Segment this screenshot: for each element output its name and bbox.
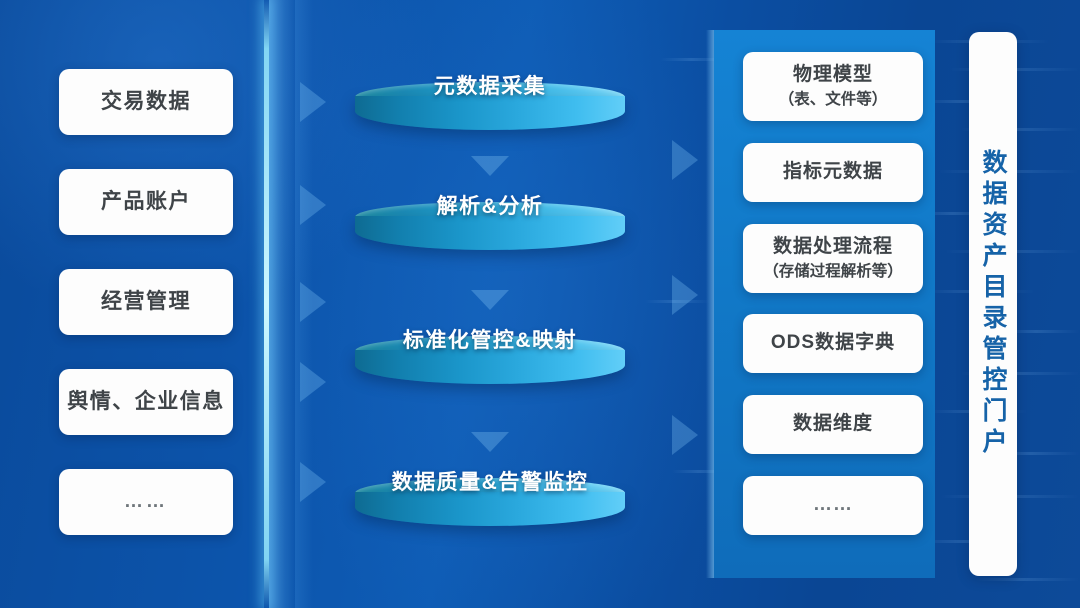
arrow-down-stage-1-to-2: [471, 156, 509, 176]
stage-label: 标准化管控&映射: [355, 324, 625, 354]
card-title: 舆情、企业信息: [67, 389, 225, 416]
card-title: ……: [124, 490, 168, 514]
output-card-ods-data-dictionary[interactable]: ODS数据字典: [743, 314, 923, 373]
stage-label: 元数据采集: [355, 70, 625, 100]
card-subtitle: （存储过程解析等）: [763, 262, 903, 282]
cylinder-body: [355, 350, 625, 384]
source-card-ellipsis[interactable]: ……: [59, 469, 233, 535]
arrow-right-to-stage-3: [300, 282, 326, 322]
card-title: ……: [813, 493, 853, 517]
card-title: 数据处理流程: [773, 235, 893, 259]
card-title: 物理模型: [793, 63, 873, 87]
card-title: 数据维度: [793, 412, 873, 436]
cylinder-body: [355, 216, 625, 250]
output-card-data-dimension[interactable]: 数据维度: [743, 395, 923, 454]
card-subtitle: （表、文件等）: [779, 90, 888, 110]
arrow-right-to-outputs-3: [672, 415, 698, 455]
card-title: 经营管理: [101, 289, 191, 316]
arrow-right-to-stage-1: [300, 82, 326, 122]
cylinder-body: [355, 96, 625, 130]
source-card-public-opinion-enterprise-info[interactable]: 舆情、企业信息: [59, 369, 233, 435]
cylinder-body: [355, 492, 625, 526]
source-card-business-management[interactable]: 经营管理: [59, 269, 233, 335]
arrow-right-to-outputs-2: [672, 275, 698, 315]
stage-label: 解析&分析: [355, 190, 625, 220]
divider-glow-band: [269, 0, 295, 608]
output-card-ellipsis[interactable]: ……: [743, 476, 923, 535]
card-title: 产品账户: [101, 189, 191, 216]
card-title: ODS数据字典: [771, 331, 895, 355]
arrow-right-to-stage-5: [300, 462, 326, 502]
arrow-down-stage-2-to-3: [471, 290, 509, 310]
output-card-physical-model[interactable]: 物理模型 （表、文件等）: [743, 52, 923, 121]
output-card-metric-metadata[interactable]: 指标元数据: [743, 143, 923, 202]
card-title: 交易数据: [101, 89, 191, 116]
stage-label: 数据质量&告警监控: [355, 466, 625, 496]
arrow-right-to-stage-2: [300, 185, 326, 225]
arrow-down-stage-3-to-4: [471, 432, 509, 452]
column-divider-left: [264, 0, 269, 608]
diagram-canvas: 交易数据 产品账户 经营管理 舆情、企业信息 …… 元数据采集 解析&分析: [0, 0, 1080, 608]
arrow-right-to-outputs-1: [672, 140, 698, 180]
source-card-product-account[interactable]: 产品账户: [59, 169, 233, 235]
portal-vertical-bar[interactable]: 数据资产目录管控门户: [969, 32, 1017, 576]
card-title: 指标元数据: [783, 160, 883, 184]
source-card-transaction-data[interactable]: 交易数据: [59, 69, 233, 135]
portal-title: 数据资产目录管控门户: [975, 149, 1011, 459]
arrow-right-to-stage-4: [300, 362, 326, 402]
output-card-data-processing-flow[interactable]: 数据处理流程 （存储过程解析等）: [743, 224, 923, 293]
